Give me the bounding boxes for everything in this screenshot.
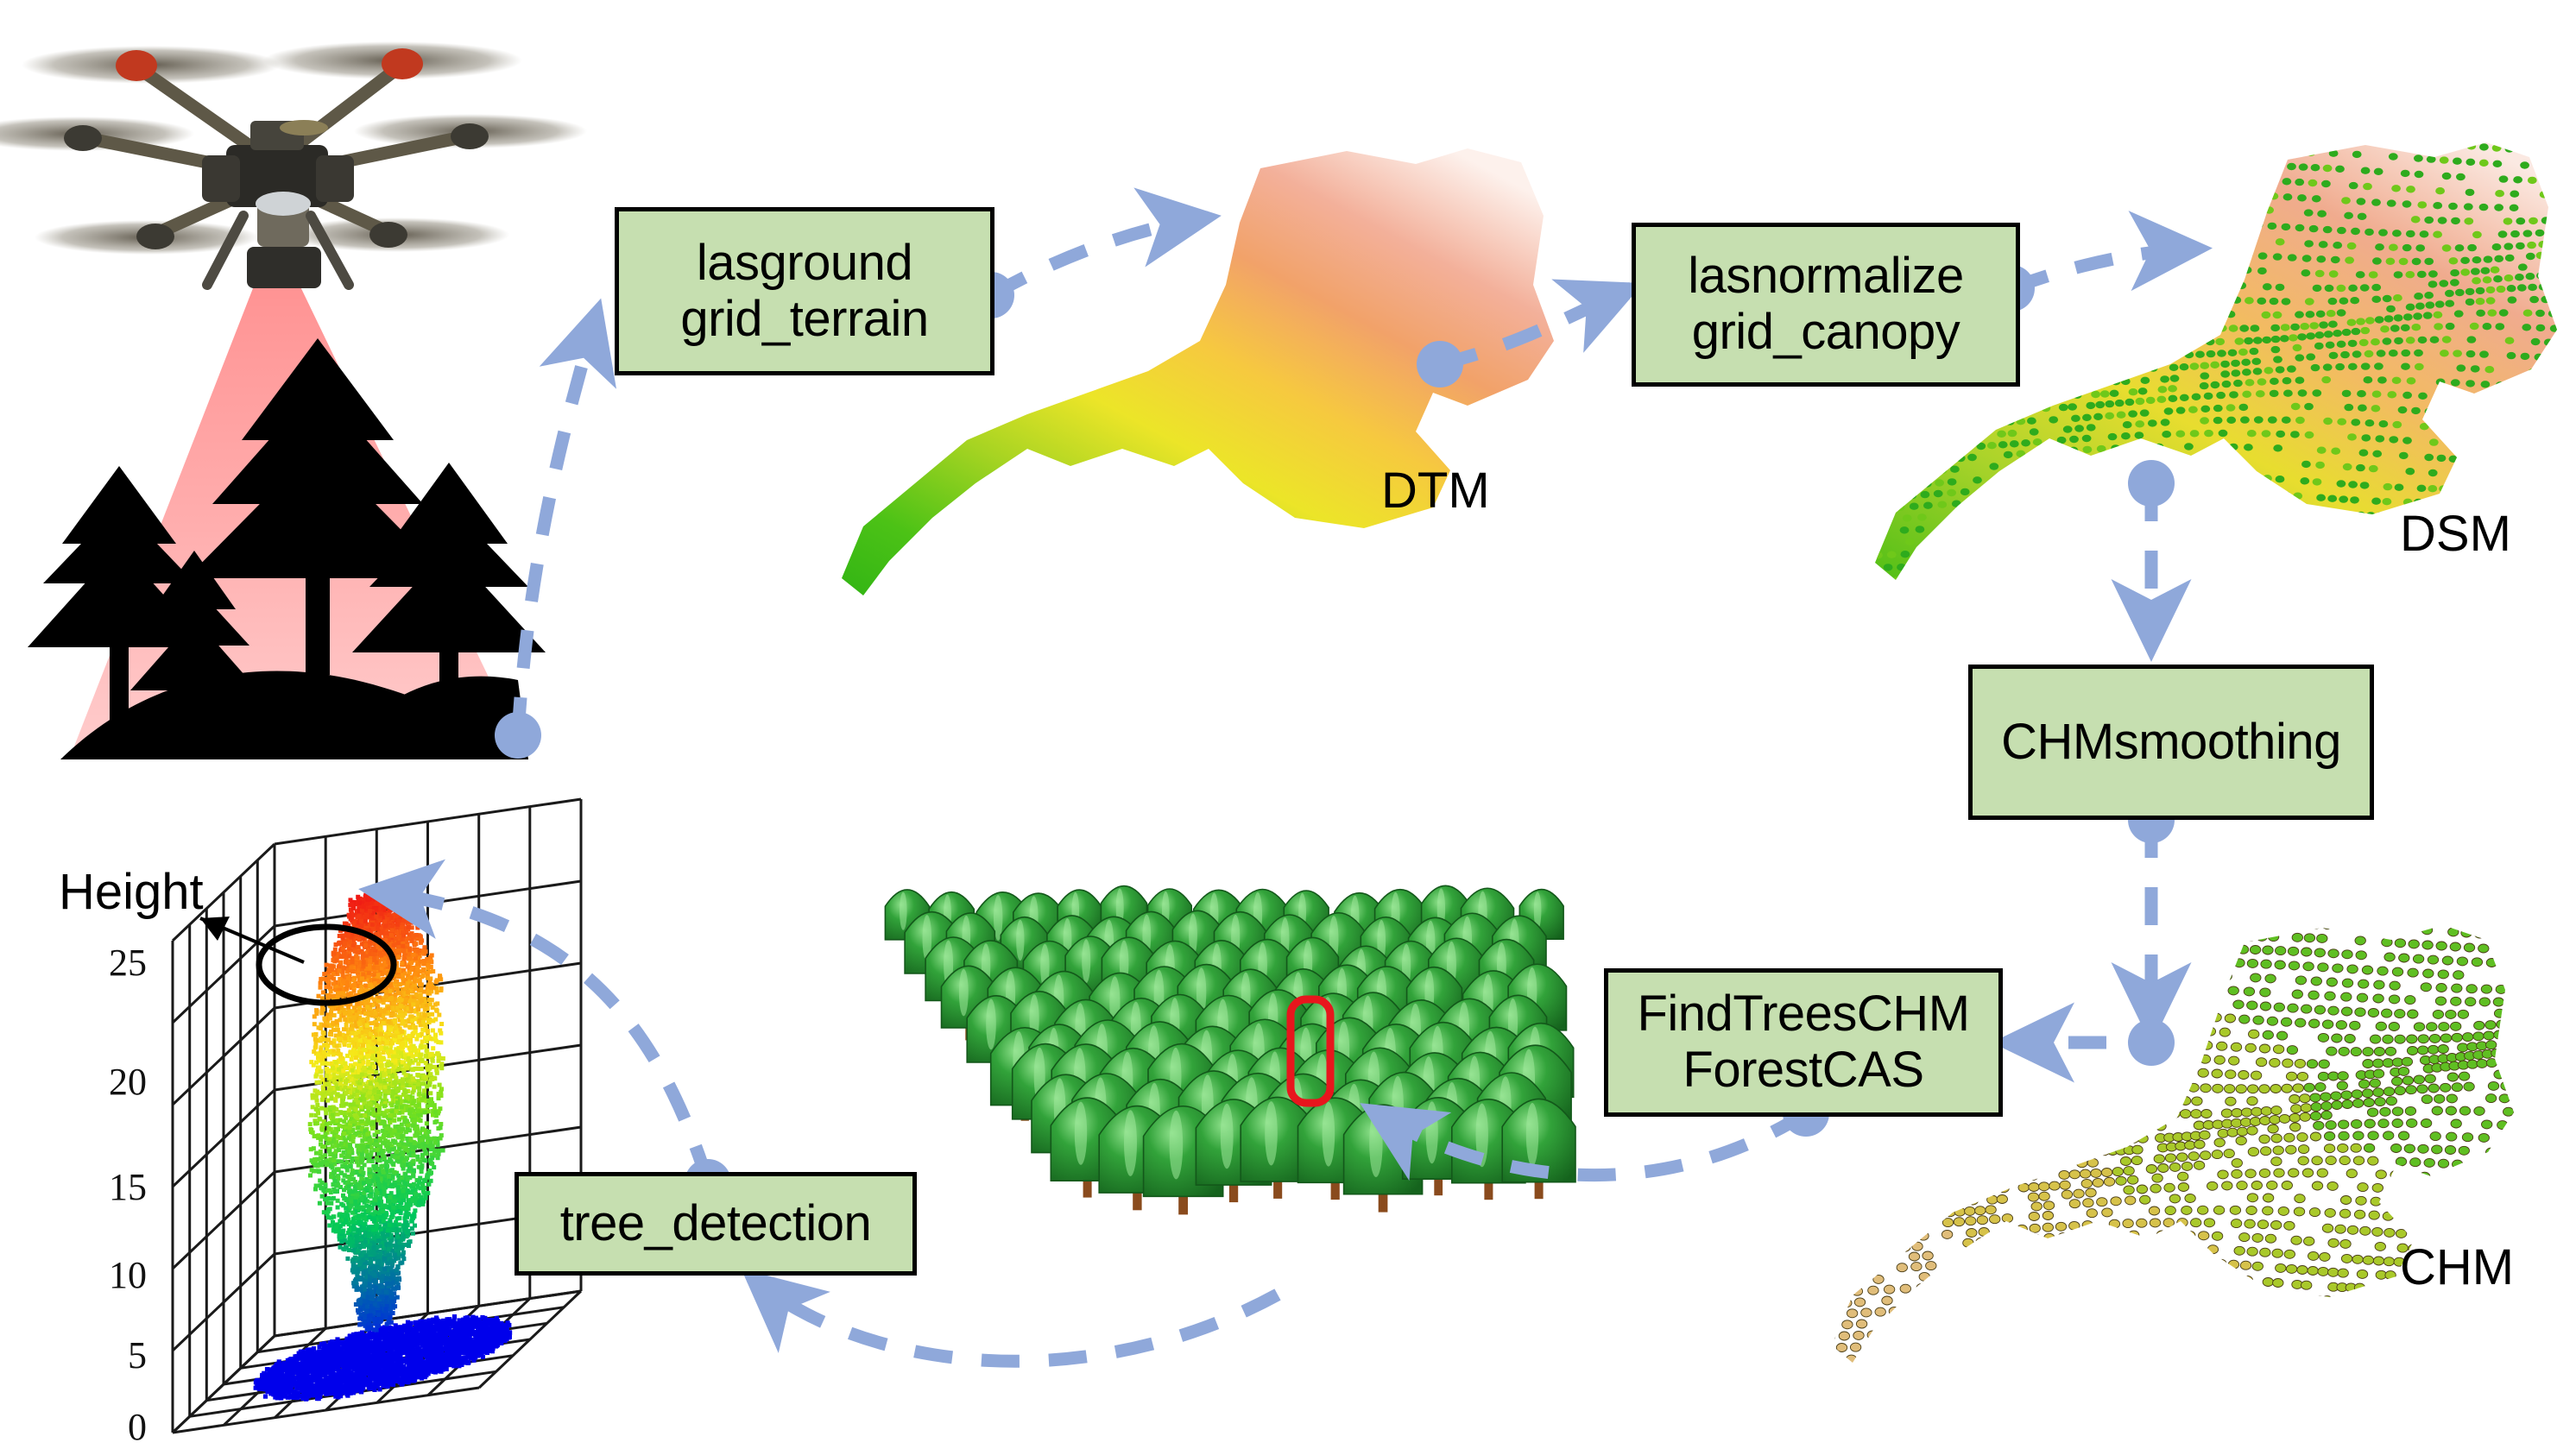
- chart-ytick-15: 15: [86, 1165, 147, 1209]
- chart-ytick-20: 20: [86, 1060, 147, 1104]
- edge-scene-to-lasground: [518, 311, 597, 735]
- process-node-findtreeschm[interactable]: FindTreesCHM ForestCAS: [1604, 968, 2003, 1117]
- workflow-diagram-canvas: lasground grid_terrain lasnormalize grid…: [0, 0, 2576, 1444]
- artifact-label-dtm: DTM: [1381, 462, 1490, 520]
- process-node-lasnormalize-label: lasnormalize grid_canopy: [1688, 249, 1964, 361]
- process-node-lasground-label: lasground grid_terrain: [680, 236, 928, 348]
- artifact-label-dsm: DSM: [2400, 505, 2511, 563]
- chart-ytick-25: 25: [86, 941, 147, 985]
- process-node-chmsmoothing-label: CHMsmoothing: [2001, 715, 2341, 771]
- edge-lasnormalize-to-dsm: [2011, 249, 2200, 288]
- process-node-lasnormalize[interactable]: lasnormalize grid_canopy: [1632, 223, 2020, 387]
- chart-ytick-0: 0: [102, 1405, 147, 1449]
- process-node-tree-detection-label: tree_detection: [560, 1196, 872, 1252]
- edge-dtm-to-lasnormalize: [1440, 288, 1632, 364]
- process-node-lasground[interactable]: lasground grid_terrain: [615, 207, 994, 375]
- process-node-tree-detection[interactable]: tree_detection: [515, 1172, 917, 1276]
- artifact-label-chm: CHM: [2400, 1238, 2514, 1296]
- chart-ytick-10: 10: [86, 1253, 147, 1297]
- process-node-chmsmoothing[interactable]: CHMsmoothing: [1968, 665, 2374, 820]
- chart-ytick-5: 5: [102, 1333, 147, 1377]
- edge-lasground-to-dtm: [991, 217, 1209, 295]
- process-node-findtreeschm-label: FindTreesCHM ForestCAS: [1637, 986, 1969, 1099]
- edge-stand-to-tree-detection: [751, 1277, 1278, 1361]
- edge-tree-detection-to-pointcloud: [371, 891, 708, 1182]
- chart-axis-label-height: Height: [59, 863, 204, 921]
- edge-findtreeschm-to-stand: [1371, 1110, 1806, 1175]
